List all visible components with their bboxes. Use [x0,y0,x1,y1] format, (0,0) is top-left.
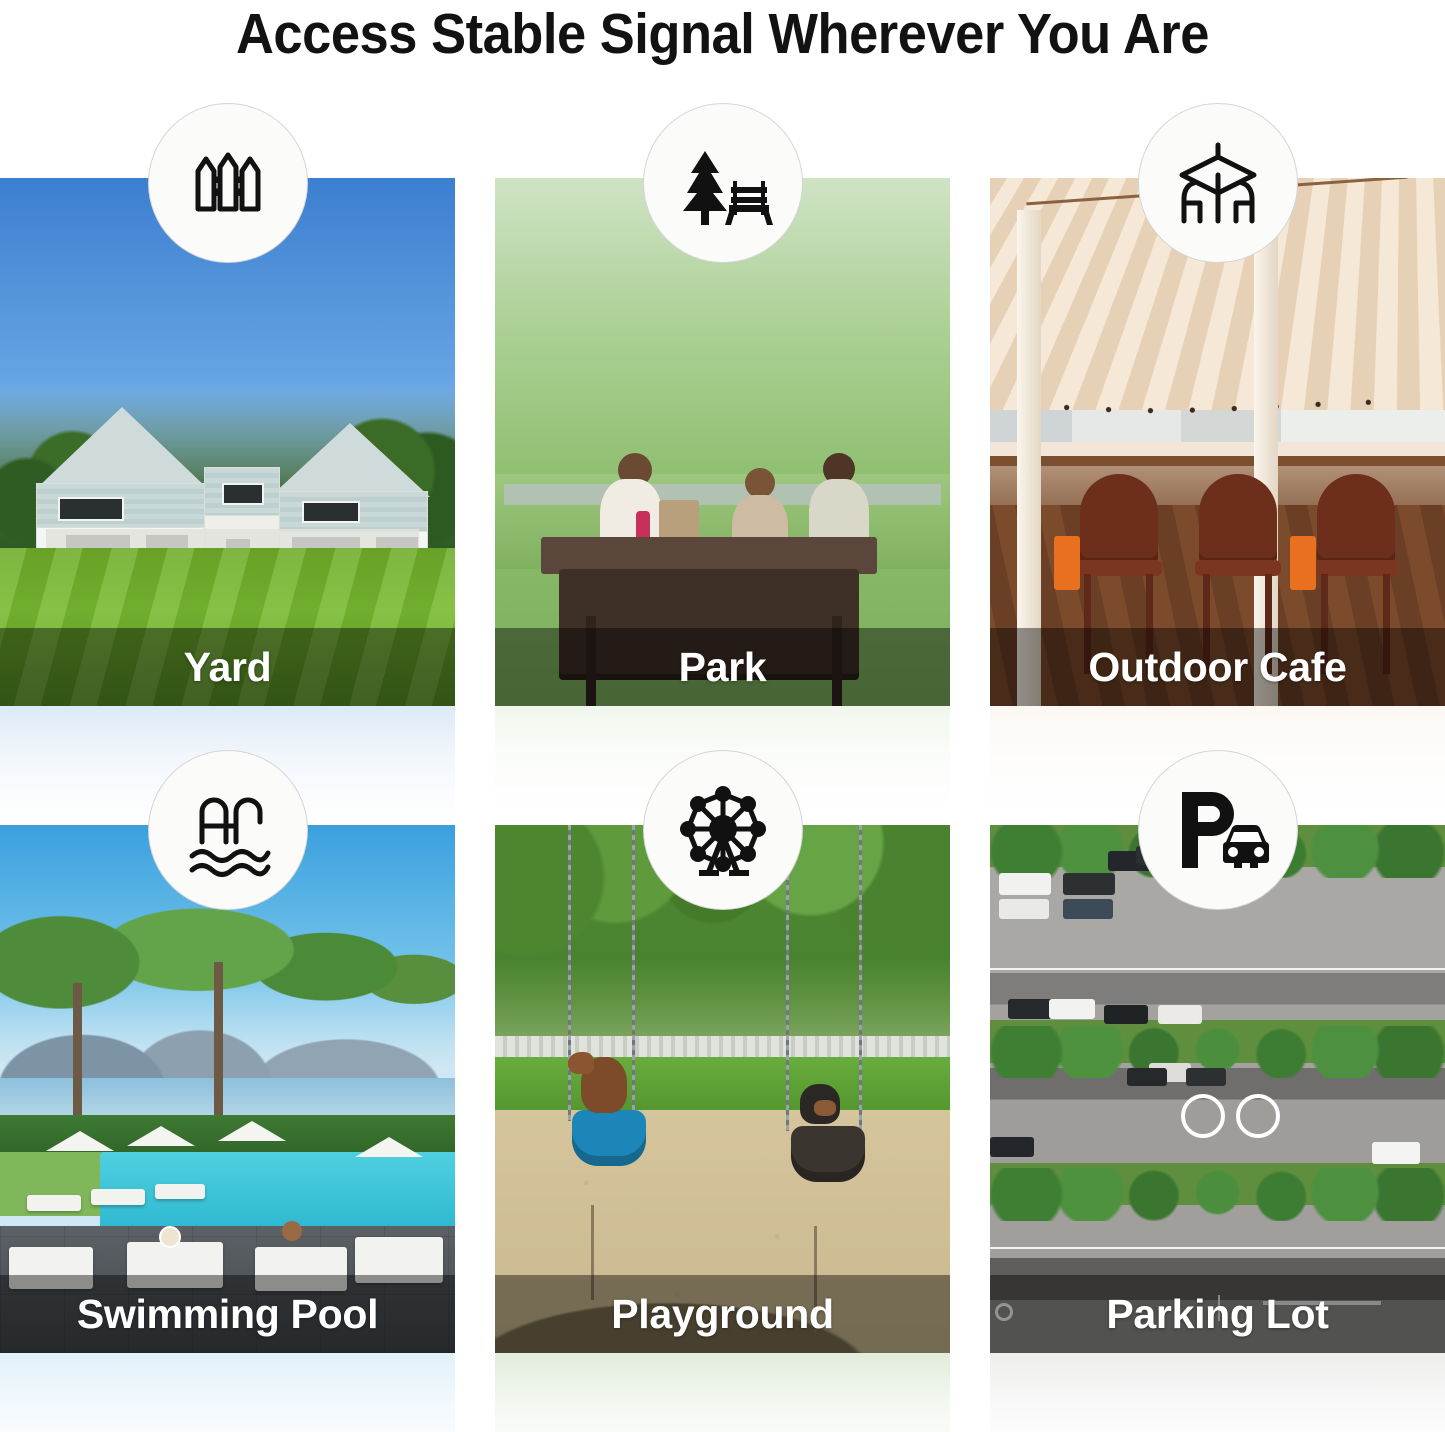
caption-playground: Playground [611,1292,834,1336]
reflection-playground [495,1353,950,1432]
panel-playground: Playground [495,825,950,1432]
panel-swimming-pool: Swimming Pool [0,825,455,1432]
feature-grid: Yard [0,168,1445,1432]
caption-band-outdoor-cafe: Outdoor Cafe [990,628,1445,706]
panel-parking-lot: Parking Lot [990,825,1445,1432]
pool-water [100,1152,455,1236]
caption-park: Park [679,645,767,689]
reflection-swimming-pool [0,1353,455,1432]
panel-yard: Yard [0,178,455,818]
reflection-parking-lot [990,1353,1445,1432]
parasol-and-chairs-icon [1138,103,1298,263]
bar-counter [990,442,1445,456]
tree-and-bench-icon [643,103,803,263]
caption-band-swimming-pool: Swimming Pool [0,1275,455,1353]
ferris-wheel-icon [643,750,803,910]
caption-yard: Yard [184,645,272,689]
pool-ladder-waves-icon [148,750,308,910]
caption-swimming-pool: Swimming Pool [77,1292,378,1336]
caption-parking-lot: Parking Lot [1106,1292,1328,1336]
panel-park: Park [495,178,950,818]
caption-band-parking-lot: Parking Lot [990,1275,1445,1353]
string-lights [1008,394,1427,420]
caption-band-park: Park [495,628,950,706]
fence [495,1036,950,1057]
fence-icon [148,103,308,263]
panel-outdoor-cafe: Outdoor Cafe [990,178,1445,818]
caption-band-yard: Yard [0,628,455,706]
caption-band-playground: Playground [495,1275,950,1353]
infographic-page: Access Stable Signal Wherever You Are [0,0,1445,1432]
page-title: Access Stable Signal Wherever You Are [58,2,1387,66]
parking-car-icon [1138,750,1298,910]
caption-outdoor-cafe: Outdoor Cafe [1088,645,1346,689]
